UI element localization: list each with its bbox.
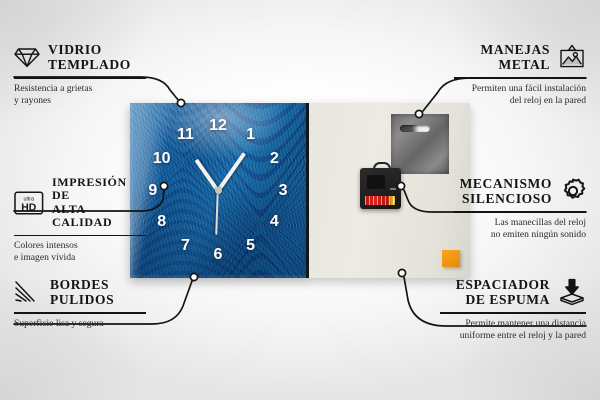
callout-title-line2: TEMPLADO (48, 57, 131, 72)
clock-numeral-3: 3 (279, 183, 288, 199)
callout-rule (14, 77, 146, 78)
callout-rule (440, 312, 586, 313)
metal-hanger-plate (391, 114, 449, 174)
clock-numeral-4: 4 (270, 214, 279, 230)
callout-title-line2: DE ESPUMA (456, 292, 550, 307)
clock-numeral-5: 5 (246, 238, 255, 254)
callout-sub-line1: Las manecillas del reloj (454, 217, 586, 229)
callout-sub-line2: e imagen vívida (14, 252, 146, 264)
callout-espaciador-espuma: ESPACIADOR DE ESPUMA Permite mantener un… (440, 277, 586, 342)
clock-numeral-12: 12 (209, 118, 227, 134)
ultra-hd-icon-small-label: ultra (24, 196, 35, 202)
callout-manejas-metal: MANEJAS METAL Permiten una fácil instala… (454, 42, 586, 107)
callout-title-line1: VIDRIO (48, 42, 131, 57)
callout-impresion-alta-calidad: ultra HD IMPRESIÓN DE ALTA CALIDAD Color… (14, 176, 146, 265)
diamond-icon (14, 46, 40, 68)
battery-stripes (365, 196, 395, 205)
clock-numeral-1: 1 (246, 127, 255, 143)
clock-center-hub (215, 187, 222, 194)
callout-sub-line1: Resistencia a grietas (14, 83, 146, 95)
callout-title-line2: METAL (481, 57, 550, 72)
callout-sub-line2: uniforme entre el reloj y la pared (440, 330, 586, 342)
clock-numeral-9: 9 (148, 183, 157, 199)
quartz-mechanism (360, 168, 401, 209)
callout-sub-line1: Permiten una fácil instalación (454, 83, 586, 95)
callout-sub-line1: Colores intensos (14, 240, 146, 252)
callout-rule (14, 312, 146, 313)
callout-sub-line2: del reloj en la pared (454, 95, 586, 107)
ultra-hd-icon-large-label: HD (21, 202, 37, 213)
ultra-hd-icon: ultra HD (14, 191, 44, 215)
hanger-keyhole-slot (400, 125, 430, 132)
callout-sub-line2: no emiten ningún sonido (454, 229, 586, 241)
callout-vidrio-templado: VIDRIO TEMPLADO Resistencia a grietas y … (14, 42, 146, 107)
clock-numeral-8: 8 (157, 214, 166, 230)
clock-numeral-10: 10 (153, 151, 171, 167)
battery (365, 196, 395, 205)
mechanism-recess (367, 175, 385, 189)
clock-numeral-6: 6 (214, 247, 223, 263)
callout-sub-line1: Superficie lisa y segura (14, 318, 146, 330)
foam-spacer (442, 250, 460, 267)
callout-sub-line1: Permite mantener una distancia (440, 318, 586, 330)
clock-front-face: 12 1 2 3 4 5 6 7 8 9 10 11 (130, 103, 309, 278)
clock-numeral-11: 11 (177, 127, 194, 143)
callout-rule (14, 235, 146, 236)
foam-spacer-icon (558, 278, 586, 306)
callout-title-line2: SILENCIOSO (460, 191, 552, 206)
picture-hanger-icon (558, 44, 586, 70)
callout-title-line1: IMPRESIÓN DE (52, 176, 146, 203)
product-image: 12 1 2 3 4 5 6 7 8 9 10 11 (130, 103, 470, 278)
clock-back-panel (309, 103, 470, 278)
callout-sub-line2: y rayones (14, 95, 146, 107)
mechanism-label (390, 188, 396, 190)
clock-numeral-2: 2 (270, 151, 279, 167)
mechanism-hook (373, 162, 391, 172)
callout-title-line2: PULIDOS (50, 292, 114, 307)
callout-title-line2: ALTA CALIDAD (52, 203, 146, 230)
callout-mecanismo-silencioso: MECANISMO SILENCIOSO Las manecillas del … (454, 176, 586, 241)
callout-rule (454, 211, 586, 212)
callout-title-line1: MANEJAS (481, 42, 550, 57)
clock-numeral-7: 7 (181, 238, 190, 254)
callout-title-line1: BORDES (50, 277, 114, 292)
callout-title-line1: MECANISMO (460, 176, 552, 191)
callout-bordes-pulidos: BORDES PULIDOS Superficie lisa y segura (14, 277, 146, 330)
gear-icon (560, 178, 586, 204)
callout-rule (454, 77, 586, 78)
polished-edge-icon (14, 280, 42, 304)
callout-title-line1: ESPACIADOR (456, 277, 550, 292)
infographic-canvas: 12 1 2 3 4 5 6 7 8 9 10 11 (0, 0, 600, 400)
